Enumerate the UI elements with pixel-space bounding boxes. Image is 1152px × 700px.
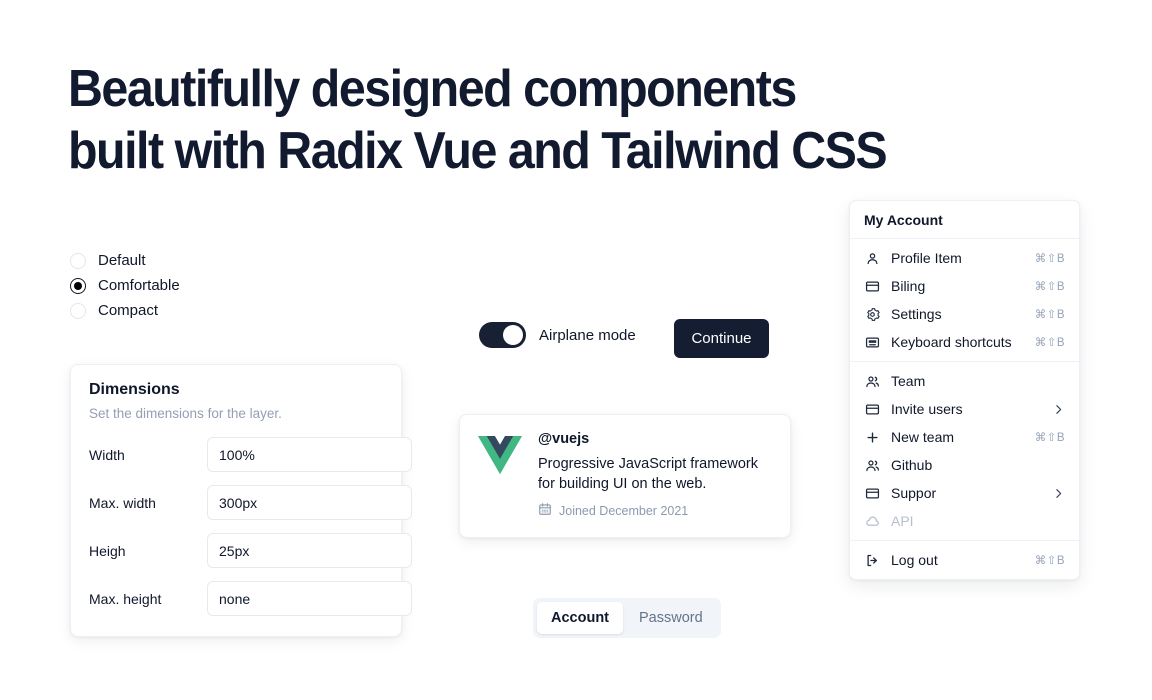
switch-knob-icon <box>503 325 523 345</box>
dimension-row-height: Heigh <box>89 533 383 568</box>
menu-item-github[interactable]: Github <box>855 451 1074 479</box>
dimension-row-max-width: Max. width <box>89 485 383 520</box>
plus-icon <box>864 429 880 445</box>
hover-card-handle: @vuejs <box>538 431 772 447</box>
chevron-right-icon <box>1052 487 1065 500</box>
menu-item-shortcut: ⌘⇧B <box>1035 335 1065 349</box>
menu-item-label: Settings <box>891 306 1024 322</box>
menu-group-account: Profile Item ⌘⇧B Biling ⌘⇧B Settings ⌘⇧B <box>850 239 1079 361</box>
logout-icon <box>864 552 880 568</box>
width-input[interactable] <box>207 437 412 472</box>
credit-card-icon <box>864 278 880 294</box>
height-input[interactable] <box>207 533 412 568</box>
dimensions-subtitle: Set the dimensions for the layer. <box>89 406 383 421</box>
vue-logo-icon <box>478 433 522 477</box>
menu-item-settings[interactable]: Settings ⌘⇧B <box>855 300 1074 328</box>
users-icon <box>864 373 880 389</box>
radio-indicator-icon <box>70 278 86 294</box>
menu-item-shortcut: ⌘⇧B <box>1035 279 1065 293</box>
radio-indicator-icon <box>70 303 86 319</box>
menu-item-invite-users[interactable]: Invite users <box>855 395 1074 423</box>
menu-item-label: Profile Item <box>891 250 1024 266</box>
hover-card: @vuejs Progressive JavaScript framework … <box>459 414 791 538</box>
dimension-row-max-height: Max. height <box>89 581 383 616</box>
dimensions-title: Dimensions <box>89 381 383 399</box>
keyboard-icon <box>864 334 880 350</box>
radio-option-compact[interactable]: Compact <box>70 298 310 323</box>
credit-card-icon <box>864 401 880 417</box>
menu-item-label: Team <box>891 373 1054 389</box>
chevron-right-icon <box>1052 403 1065 416</box>
max-width-label: Max. width <box>89 495 207 511</box>
width-label: Width <box>89 447 207 463</box>
menu-item-label: Biling <box>891 278 1024 294</box>
users-icon <box>864 457 880 473</box>
menu-item-billing[interactable]: Biling ⌘⇧B <box>855 272 1074 300</box>
radio-indicator-icon <box>70 253 86 269</box>
menu-item-label: Keyboard shortcuts <box>891 334 1024 350</box>
menu-item-shortcut: ⌘⇧B <box>1035 430 1065 444</box>
menu-item-shortcut: ⌘⇧B <box>1035 251 1065 265</box>
page-title-line-2: built with Radix Vue and Tailwind CSS <box>68 120 961 182</box>
airplane-mode-switch[interactable] <box>479 322 526 348</box>
hover-card-meta: Joined December 2021 <box>538 502 772 519</box>
menu-item-support[interactable]: Suppor <box>855 479 1074 507</box>
radio-option-comfortable[interactable]: Comfortable <box>70 273 310 298</box>
radio-option-default[interactable]: Default <box>70 248 310 273</box>
menu-item-label: Log out <box>891 552 1024 568</box>
radio-group: Default Comfortable Compact <box>70 248 310 323</box>
hover-card-joined: Joined December 2021 <box>559 504 688 518</box>
menu-item-new-team[interactable]: New team ⌘⇧B <box>855 423 1074 451</box>
max-height-label: Max. height <box>89 591 207 607</box>
menu-group-team: Team Invite users New team ⌘⇧B <box>850 362 1079 540</box>
page-title-line-1: Beautifully designed components <box>68 58 961 120</box>
continue-button[interactable]: Continue <box>674 319 769 358</box>
tab-password[interactable]: Password <box>625 602 717 634</box>
menu-item-label: API <box>891 513 1054 529</box>
cloud-icon <box>864 513 880 529</box>
menu-item-label: Suppor <box>891 485 1041 501</box>
radio-option-label: Compact <box>98 303 158 318</box>
page-title: Beautifully designed components built wi… <box>68 58 961 182</box>
airplane-mode-label: Airplane mode <box>539 327 636 344</box>
dimensions-card: Dimensions Set the dimensions for the la… <box>70 364 402 637</box>
menu-item-api: API <box>855 507 1074 535</box>
hover-card-body: @vuejs Progressive JavaScript framework … <box>538 431 772 519</box>
gear-icon <box>864 306 880 322</box>
account-dropdown-menu: My Account Profile Item ⌘⇧B Biling ⌘⇧B <box>849 200 1080 580</box>
credit-card-icon <box>864 485 880 501</box>
user-icon <box>864 250 880 266</box>
menu-item-label: Github <box>891 457 1054 473</box>
menu-group-logout: Log out ⌘⇧B <box>850 541 1079 579</box>
tabs: Account Password <box>533 598 721 638</box>
menu-item-label: Invite users <box>891 401 1041 417</box>
max-height-input[interactable] <box>207 581 412 616</box>
menu-item-label: New team <box>891 429 1024 445</box>
airplane-mode-switch-wrapper: Airplane mode <box>479 322 636 348</box>
hover-card-description: Progressive JavaScript framework for bui… <box>538 454 772 494</box>
menu-header: My Account <box>850 201 1079 238</box>
height-label: Heigh <box>89 543 207 559</box>
menu-item-team[interactable]: Team <box>855 367 1074 395</box>
menu-item-log-out[interactable]: Log out ⌘⇧B <box>855 546 1074 574</box>
menu-item-shortcut: ⌘⇧B <box>1035 553 1065 567</box>
calendar-icon <box>538 502 552 519</box>
max-width-input[interactable] <box>207 485 412 520</box>
menu-item-keyboard-shortcuts[interactable]: Keyboard shortcuts ⌘⇧B <box>855 328 1074 356</box>
menu-item-shortcut: ⌘⇧B <box>1035 307 1065 321</box>
radio-option-label: Comfortable <box>98 278 180 293</box>
radio-option-label: Default <box>98 253 146 268</box>
dimension-row-width: Width <box>89 437 383 472</box>
menu-item-profile[interactable]: Profile Item ⌘⇧B <box>855 244 1074 272</box>
tab-account[interactable]: Account <box>537 602 623 634</box>
